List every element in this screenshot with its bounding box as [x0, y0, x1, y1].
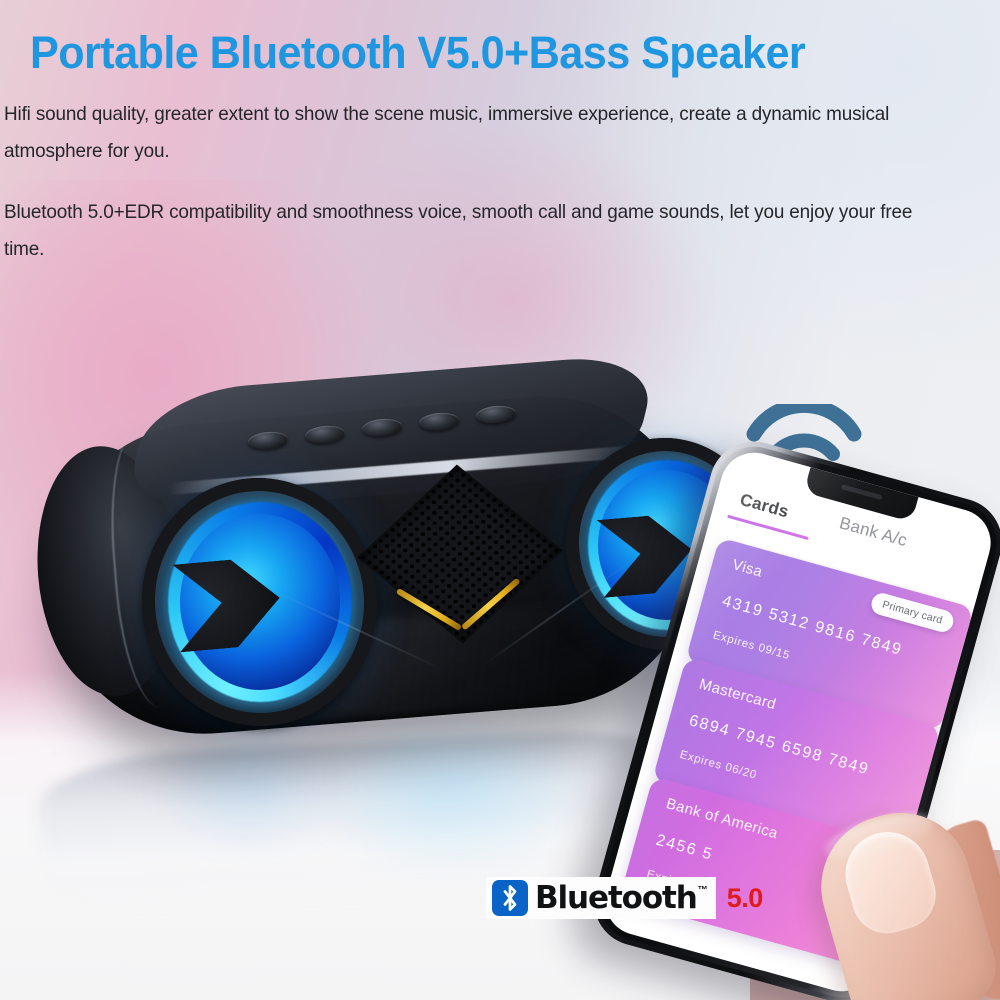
bluetooth-trademark: ™ [698, 885, 708, 896]
control-button-4[interactable] [418, 411, 459, 431]
tab-bank-account[interactable]: Bank A/c [837, 513, 909, 551]
page-title: Portable Bluetooth V5.0+Bass Speaker [30, 26, 932, 80]
bluetooth-version-label: 5.0 [727, 883, 763, 914]
card-brand-label: Mastercard [697, 676, 778, 714]
bluetooth-rune-icon [492, 880, 528, 916]
speaker-gold-accent-trim [396, 561, 523, 633]
control-button-3[interactable] [361, 417, 402, 437]
product-marketing-image: Portable Bluetooth V5.0+Bass Speaker Hif… [0, 0, 1000, 1000]
card-number: 2456 5 [654, 832, 715, 865]
card-expiry: Expires 06/20 [678, 749, 758, 782]
control-button-5[interactable] [475, 404, 516, 424]
bluetooth-badge: Bluetooth ™ 5.0 [486, 874, 746, 922]
bluetooth-wordmark: Bluetooth [535, 880, 697, 916]
speaker-control-button-row [248, 404, 538, 452]
description-paragraph-2: Bluetooth 5.0+EDR compatibility and smoo… [4, 194, 957, 268]
control-button-2[interactable] [304, 424, 345, 444]
card-expiry: Expires 09/15 [712, 629, 792, 662]
bluetooth-logo-plate: Bluetooth ™ [486, 877, 716, 919]
card-brand-label: Visa [730, 556, 764, 581]
description-paragraph-1: Hifi sound quality, greater extent to sh… [4, 96, 957, 170]
active-tab-indicator [727, 515, 809, 540]
tab-cards[interactable]: Cards [738, 490, 791, 523]
control-button-1[interactable] [247, 430, 288, 450]
